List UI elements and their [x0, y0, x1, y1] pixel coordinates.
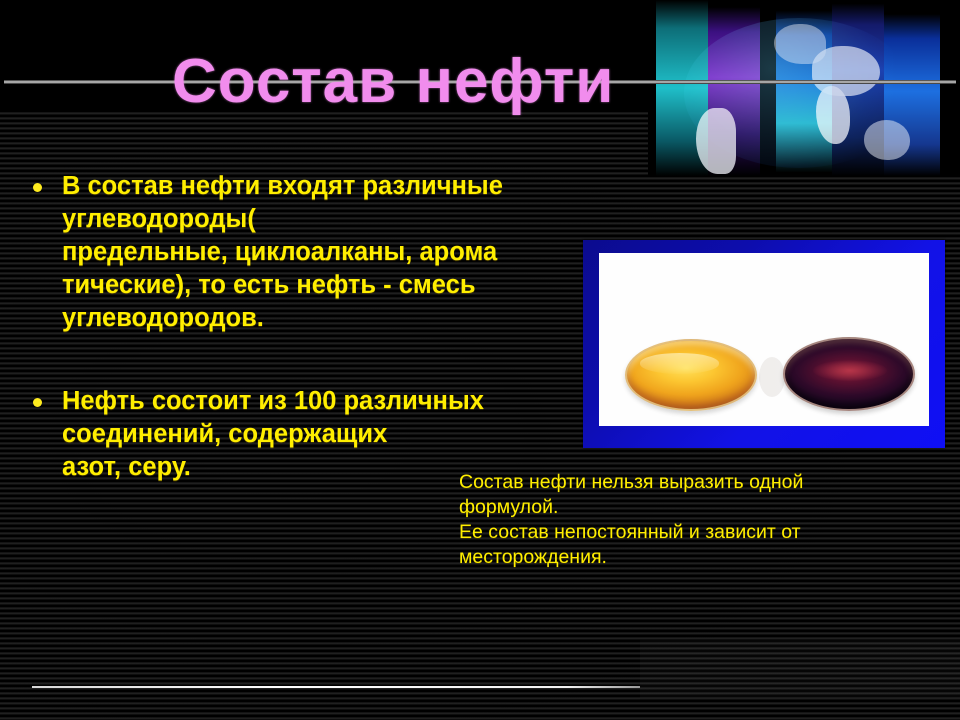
world-map-stripes-graphic: [648, 0, 960, 176]
bullet-text: Нефть состоит из 100 различных соединени…: [62, 385, 484, 484]
bullet-dot-icon: [33, 183, 42, 192]
bottom-divider-line: [32, 686, 640, 688]
page-title: Состав нефти: [172, 46, 614, 117]
globe-stripe-teal: [656, 0, 708, 176]
petri-dish-light-oil: [625, 339, 757, 411]
globe-stripe-blue-1: [776, 0, 832, 176]
globe-stripe-blue-2: [884, 0, 940, 176]
petri-dish-dark-oil: [783, 337, 915, 411]
globe-stripe-navy: [832, 0, 884, 176]
presentation-slide: Состав нефти В состав нефти входят разли…: [0, 0, 960, 720]
list-item: Нефть состоит из 100 различных соединени…: [33, 385, 484, 484]
picture-frame: [583, 240, 945, 448]
bullet-dot-icon: [33, 398, 42, 407]
dish-separator-highlight: [759, 357, 785, 397]
petri-dishes-photo: [599, 253, 929, 426]
bullet-text: В состав нефти входят различные углеводо…: [62, 170, 503, 335]
globe-stripe-purple: [708, 0, 760, 176]
list-item: В состав нефти входят различные углеводо…: [33, 170, 503, 335]
picture-caption: Состав нефти нельзя выразить одной форму…: [459, 470, 959, 570]
background-panel-bottom-right: [640, 640, 960, 698]
